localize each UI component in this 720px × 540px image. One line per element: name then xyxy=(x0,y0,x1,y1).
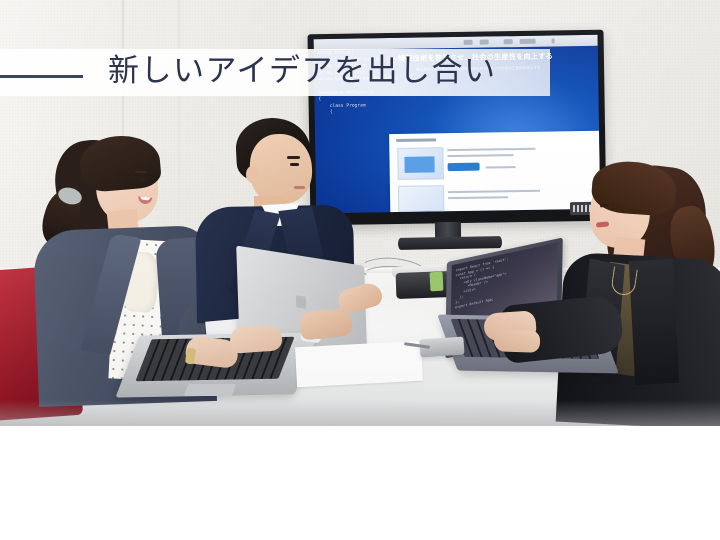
headline-rule xyxy=(0,75,83,78)
monitor-stand-base xyxy=(398,236,502,250)
desk-grommet xyxy=(396,271,453,299)
person-center-eyebrow xyxy=(287,156,300,159)
card-title-bar xyxy=(396,138,436,142)
card-line xyxy=(448,196,508,199)
laptop-right-code-text: import React from 'react'; const App = (… xyxy=(455,255,520,310)
person-center-ear xyxy=(246,166,258,183)
bottom-bar: FULL STACK 一緒に成長しよう。 xyxy=(0,426,720,540)
person-left-hand xyxy=(229,324,283,354)
toolbar-dot-icon xyxy=(480,39,489,44)
card-thumb xyxy=(397,147,443,180)
slide-card xyxy=(389,131,600,213)
toolbar-dot-icon xyxy=(552,38,555,43)
wall-seam xyxy=(178,0,180,240)
hero-photo: using System; using System.Collections.G… xyxy=(0,0,720,426)
headline-text: 新しいアイデアを出し合い xyxy=(108,48,496,94)
card-line xyxy=(448,190,540,193)
laptop-left-trackpad xyxy=(184,384,237,396)
desk-front-shadow xyxy=(0,400,720,426)
poster-canvas: using System; using System.Collections.G… xyxy=(0,0,720,540)
card-line xyxy=(447,154,513,157)
card-button xyxy=(448,163,480,172)
toolbar-dot-icon xyxy=(464,40,473,45)
card-thumb-2 xyxy=(398,185,444,212)
person-center-eye xyxy=(290,163,299,166)
toolbar-dot-icon xyxy=(520,39,536,44)
desk-paper xyxy=(295,341,423,388)
desk-grommet-connector xyxy=(430,272,444,292)
laptop-left-logo xyxy=(296,295,306,309)
person-center-mouth xyxy=(294,186,305,189)
card-line xyxy=(486,166,516,168)
toolbar-dot-icon xyxy=(504,39,513,44)
person-right-hand xyxy=(494,329,541,353)
card-line xyxy=(447,148,535,151)
